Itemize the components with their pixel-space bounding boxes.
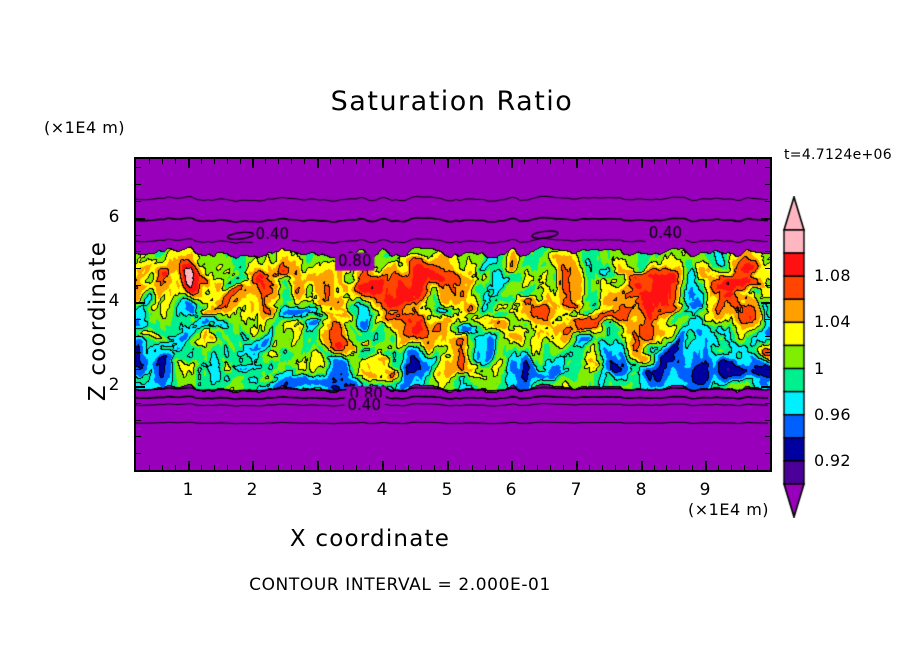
y-tick-major-right <box>761 218 770 220</box>
x-tick-major-top <box>447 159 449 168</box>
x-tick-major <box>511 461 513 470</box>
y-tick-minor-right <box>765 420 770 421</box>
x-tick-major <box>382 461 384 470</box>
y-tick-major-right <box>761 302 770 304</box>
x-tick-label: 9 <box>685 480 725 500</box>
x-tick-minor <box>718 465 719 470</box>
x-tick-minor-top <box>524 159 525 164</box>
y-tick-major <box>136 302 145 304</box>
x-tick-minor <box>356 465 357 470</box>
x-tick-minor-top <box>537 159 538 164</box>
y-tick-minor-right <box>765 319 770 320</box>
x-tick-minor-top <box>162 159 163 164</box>
x-tick-minor <box>757 465 758 470</box>
x-tick-major-top <box>641 159 643 168</box>
x-tick-minor <box>563 465 564 470</box>
figure-root: Saturation Ratio (×1E4 m) t=4.7124e+06 1… <box>0 0 904 654</box>
x-tick-minor-top <box>718 159 719 164</box>
contour-interval-note: CONTOUR INTERVAL = 2.000E-01 <box>0 575 800 595</box>
x-tick-minor-top <box>550 159 551 164</box>
x-tick-major <box>641 461 643 470</box>
x-tick-major <box>576 461 578 470</box>
x-tick-minor-top <box>602 159 603 164</box>
x-tick-minor <box>304 465 305 470</box>
y-tick-minor <box>136 436 141 437</box>
x-tick-minor <box>602 465 603 470</box>
y-tick-minor-right <box>765 436 770 437</box>
x-tick-minor <box>201 465 202 470</box>
x-tick-minor-top <box>459 159 460 164</box>
x-tick-minor <box>589 465 590 470</box>
x-tick-major-top <box>576 159 578 168</box>
x-tick-minor <box>615 465 616 470</box>
x-tick-minor-top <box>227 159 228 164</box>
x-tick-minor-top <box>498 159 499 164</box>
page-title: Saturation Ratio <box>0 86 904 117</box>
x-tick-minor-top <box>343 159 344 164</box>
y-tick-minor-right <box>765 167 770 168</box>
y-tick-major <box>136 386 145 388</box>
x-tick-major <box>447 461 449 470</box>
x-tick-minor-top <box>214 159 215 164</box>
x-tick-label: 4 <box>362 480 402 500</box>
contour-plot-area[interactable] <box>134 157 772 472</box>
time-annotation: t=4.7124e+06 <box>784 147 892 163</box>
x-tick-minor-top <box>731 159 732 164</box>
y-tick-minor <box>136 352 141 353</box>
x-tick-minor-top <box>304 159 305 164</box>
x-tick-minor-top <box>615 159 616 164</box>
x-tick-minor <box>550 465 551 470</box>
y-tick-minor-right <box>765 285 770 286</box>
x-tick-minor <box>485 465 486 470</box>
x-tick-minor-top <box>485 159 486 164</box>
y-axis-units-label: (×1E4 m) <box>44 118 125 137</box>
x-tick-label: 2 <box>232 480 272 500</box>
x-tick-minor <box>395 465 396 470</box>
x-tick-label: 5 <box>427 480 467 500</box>
contour-field-canvas <box>136 159 770 470</box>
x-tick-major-top <box>382 159 384 168</box>
y-tick-minor-right <box>765 403 770 404</box>
x-tick-minor-top <box>278 159 279 164</box>
x-tick-minor-top <box>757 159 758 164</box>
x-tick-label: 1 <box>168 480 208 500</box>
x-tick-minor <box>459 465 460 470</box>
x-tick-label: 6 <box>491 480 531 500</box>
x-tick-minor-top <box>679 159 680 164</box>
y-tick-minor-right <box>765 369 770 370</box>
colorbar[interactable] <box>781 196 807 518</box>
x-tick-major-top <box>188 159 190 168</box>
x-tick-minor <box>408 465 409 470</box>
x-tick-minor <box>692 465 693 470</box>
x-tick-major-top <box>317 159 319 168</box>
x-tick-major <box>317 461 319 470</box>
x-tick-minor <box>330 465 331 470</box>
x-tick-minor-top <box>291 159 292 164</box>
x-tick-minor-top <box>265 159 266 164</box>
x-tick-minor-top <box>472 159 473 164</box>
y-tick-minor-right <box>765 352 770 353</box>
x-tick-minor <box>214 465 215 470</box>
x-tick-minor <box>149 465 150 470</box>
x-tick-minor-top <box>666 159 667 164</box>
y-tick-minor-right <box>765 336 770 337</box>
x-tick-minor <box>162 465 163 470</box>
x-tick-minor <box>628 465 629 470</box>
y-tick-minor <box>136 251 141 252</box>
y-tick-minor <box>136 201 141 202</box>
y-tick-major-right <box>761 386 770 388</box>
colorbar-tick-label: 1.04 <box>814 312 851 331</box>
x-axis-title: X coordinate <box>0 526 740 552</box>
y-tick-minor-right <box>765 453 770 454</box>
x-tick-minor <box>524 465 525 470</box>
y-tick-minor <box>136 184 141 185</box>
x-tick-major <box>252 461 254 470</box>
x-tick-minor-top <box>408 159 409 164</box>
y-tick-minor <box>136 285 141 286</box>
y-tick-minor <box>136 403 141 404</box>
x-tick-major <box>705 461 707 470</box>
y-tick-minor-right <box>765 184 770 185</box>
x-tick-minor <box>227 465 228 470</box>
x-tick-minor <box>265 465 266 470</box>
x-tick-minor-top <box>744 159 745 164</box>
x-tick-minor <box>472 465 473 470</box>
x-tick-minor <box>175 465 176 470</box>
colorbar-tick-label: 0.92 <box>814 451 851 470</box>
x-tick-minor <box>498 465 499 470</box>
y-tick-minor <box>136 420 141 421</box>
x-tick-major-top <box>252 159 254 168</box>
x-tick-minor <box>291 465 292 470</box>
x-tick-minor-top <box>240 159 241 164</box>
x-tick-minor <box>240 465 241 470</box>
y-tick-minor <box>136 369 141 370</box>
colorbar-tick-label: 1 <box>814 359 824 378</box>
x-tick-minor-top <box>654 159 655 164</box>
x-tick-minor-top <box>563 159 564 164</box>
y-tick-minor <box>136 268 141 269</box>
x-tick-minor-top <box>692 159 693 164</box>
y-tick-minor <box>136 336 141 337</box>
x-tick-major-top <box>705 159 707 168</box>
y-tick-minor-right <box>765 251 770 252</box>
x-tick-minor <box>421 465 422 470</box>
x-tick-minor <box>654 465 655 470</box>
x-tick-minor-top <box>628 159 629 164</box>
x-tick-minor <box>537 465 538 470</box>
y-tick-minor-right <box>765 235 770 236</box>
x-tick-label: 7 <box>556 480 596 500</box>
x-tick-minor-top <box>149 159 150 164</box>
colorbar-tick-label: 0.96 <box>814 405 851 424</box>
colorbar-canvas <box>781 196 807 518</box>
x-tick-minor-top <box>395 159 396 164</box>
colorbar-tick-label: 1.08 <box>814 266 851 285</box>
y-axis-title: Z coordinate <box>85 201 111 441</box>
y-tick-major <box>136 218 145 220</box>
x-axis-units-label: (×1E4 m) <box>688 500 769 519</box>
x-tick-label: 8 <box>621 480 661 500</box>
y-tick-minor-right <box>765 268 770 269</box>
x-tick-major-top <box>511 159 513 168</box>
x-tick-major <box>188 461 190 470</box>
x-tick-minor <box>666 465 667 470</box>
x-tick-minor-top <box>201 159 202 164</box>
x-tick-minor <box>434 465 435 470</box>
x-tick-minor-top <box>421 159 422 164</box>
x-tick-label: 3 <box>297 480 337 500</box>
y-tick-minor <box>136 319 141 320</box>
x-tick-minor-top <box>434 159 435 164</box>
y-tick-minor <box>136 453 141 454</box>
x-tick-minor-top <box>369 159 370 164</box>
x-tick-minor-top <box>589 159 590 164</box>
x-tick-minor-top <box>330 159 331 164</box>
y-tick-minor-right <box>765 201 770 202</box>
x-tick-minor-top <box>356 159 357 164</box>
x-tick-minor <box>744 465 745 470</box>
y-tick-minor <box>136 167 141 168</box>
x-tick-minor <box>343 465 344 470</box>
x-tick-minor-top <box>175 159 176 164</box>
x-tick-minor <box>278 465 279 470</box>
x-tick-minor <box>369 465 370 470</box>
x-tick-minor <box>679 465 680 470</box>
y-tick-minor <box>136 235 141 236</box>
x-tick-minor <box>731 465 732 470</box>
